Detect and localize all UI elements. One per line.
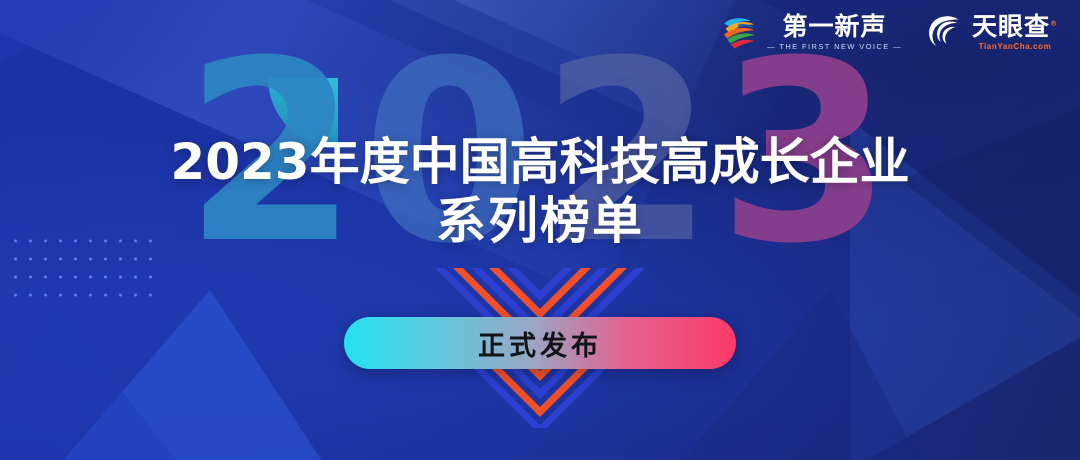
trademark-icon: ® [1050, 19, 1058, 27]
chevron-decoration-lower [390, 358, 690, 460]
logo-name-cn: 第一新声 [783, 14, 887, 39]
logo-name-text: 天眼查 [972, 12, 1050, 41]
page-title: 2023年度中国高科技高成长企业 系列榜单 [0, 136, 1080, 248]
logo-row: 第一新声 — THE FIRST NEW VOICE — 天眼查® TianYa… [719, 12, 1058, 52]
logo-tagline: — THE FIRST NEW VOICE — [767, 43, 902, 51]
logo-diyixinsheng[interactable]: 第一新声 — THE FIRST NEW VOICE — [719, 12, 902, 52]
logo-tagline: TianYanCha.com [979, 43, 1052, 51]
logo-name-cn: 天眼查® [972, 14, 1058, 39]
release-badge[interactable]: 正式发布 [344, 317, 736, 369]
title-line-2: 系列榜单 [0, 195, 1080, 248]
title-line-1: 2023年度中国高科技高成长企业 [0, 136, 1080, 189]
eye-lens-logo-icon [924, 12, 964, 52]
triangle-bottom-left-2 [0, 310, 290, 460]
swoosh-logo-icon [719, 12, 759, 52]
release-badge-label: 正式发布 [478, 324, 602, 363]
logo-tianyancha[interactable]: 天眼查® TianYanCha.com [924, 12, 1058, 52]
promo-banner: 2023 [0, 0, 1080, 460]
